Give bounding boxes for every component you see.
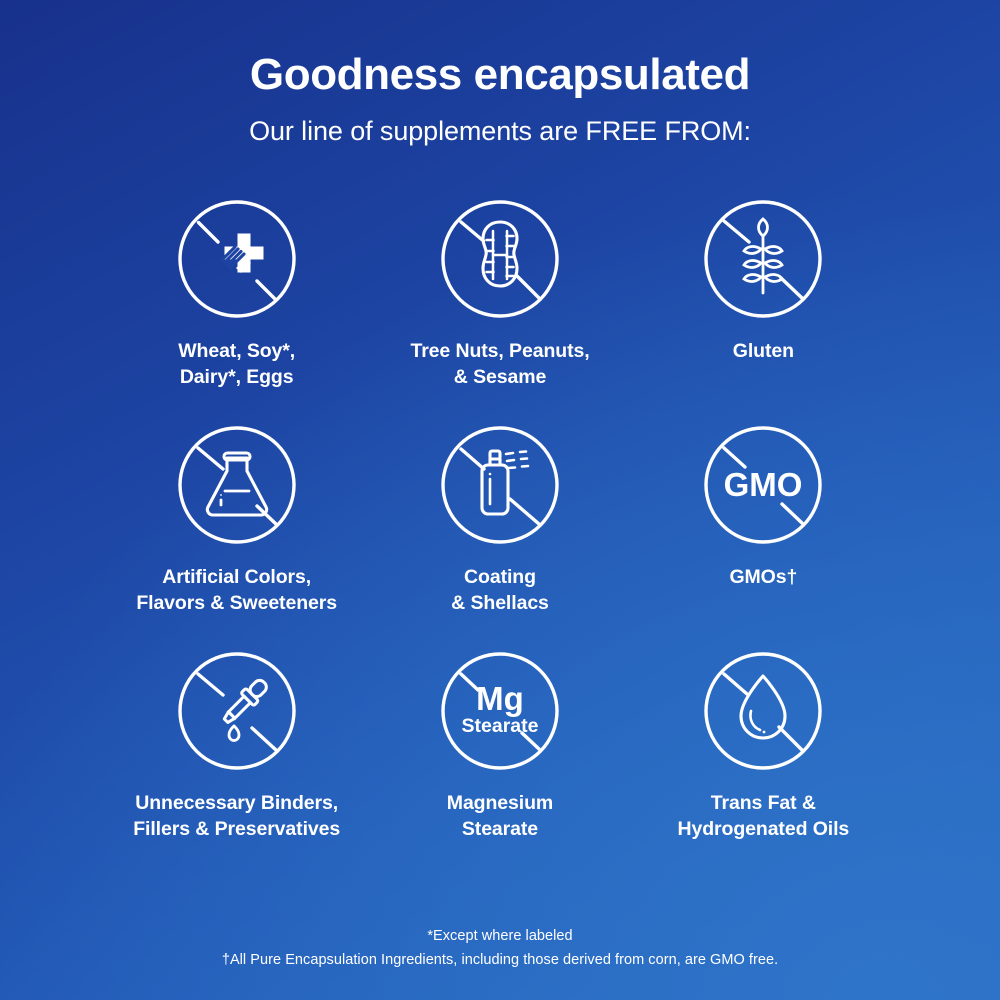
footnotes: *Except where labeled †All Pure Encapsul… xyxy=(0,925,1000,972)
no-wheat-gluten-icon xyxy=(699,195,827,323)
free-from-item-label: Magnesium Stearate xyxy=(447,791,553,843)
free-from-item-coating-shellacs: Coating & Shellacs xyxy=(368,421,631,617)
no-spray-can-coating-icon xyxy=(436,421,564,549)
free-from-item-label: Wheat, Soy*, Dairy*, Eggs xyxy=(178,339,295,391)
magnesium-symbol-text: Mg xyxy=(476,680,524,717)
free-from-item-binders-fillers: Unnecessary Binders, Fillers & Preservat… xyxy=(105,647,368,843)
footnote-dagger: †All Pure Encapsulation Ingredients, inc… xyxy=(0,949,1000,972)
free-from-item-gluten: Gluten xyxy=(632,195,895,391)
gmo-icon-text: GMO xyxy=(724,466,803,503)
free-from-item-label: Tree Nuts, Peanuts, & Sesame xyxy=(410,339,589,391)
free-from-item-artificial-colors: Artificial Colors, Flavors & Sweeteners xyxy=(105,421,368,617)
free-from-item-label: Unnecessary Binders, Fillers & Preservat… xyxy=(133,791,340,843)
no-oil-droplet-icon xyxy=(699,647,827,775)
no-peanut-icon xyxy=(436,195,564,323)
page-title: Goodness encapsulated xyxy=(250,52,750,98)
free-from-item-magnesium-stearate: Mg Stearate Magnesium Stearate xyxy=(368,647,631,843)
no-dropper-binders-icon xyxy=(173,647,301,775)
stearate-text: Stearate xyxy=(462,715,539,737)
no-allergens-cross-fork-icon xyxy=(173,195,301,323)
page-subtitle: Our line of supplements are FREE FROM: xyxy=(249,116,751,147)
free-from-item-tree-nuts-peanuts-sesame: Tree Nuts, Peanuts, & Sesame xyxy=(368,195,631,391)
free-from-item-wheat-soy-dairy-eggs: Wheat, Soy*, Dairy*, Eggs xyxy=(105,195,368,391)
no-magnesium-stearate-icon: Mg Stearate xyxy=(436,647,564,775)
no-flask-artificial-icon xyxy=(173,421,301,549)
free-from-item-label: Trans Fat & Hydrogenated Oils xyxy=(677,791,849,843)
footnote-asterisk: *Except where labeled xyxy=(0,925,1000,948)
free-from-item-label: Gluten xyxy=(733,339,794,365)
free-from-item-gmos: GMO GMOs† xyxy=(632,421,895,617)
free-from-item-trans-fat-oils: Trans Fat & Hydrogenated Oils xyxy=(632,647,895,843)
no-gmo-icon: GMO xyxy=(699,421,827,549)
free-from-grid: Wheat, Soy*, Dairy*, Eggs xyxy=(105,195,895,843)
infographic-page: Goodness encapsulated Our line of supple… xyxy=(0,0,1000,1000)
free-from-item-label: Artificial Colors, Flavors & Sweeteners xyxy=(136,565,337,617)
free-from-item-label: GMOs† xyxy=(729,565,797,591)
free-from-item-label: Coating & Shellacs xyxy=(451,565,549,617)
